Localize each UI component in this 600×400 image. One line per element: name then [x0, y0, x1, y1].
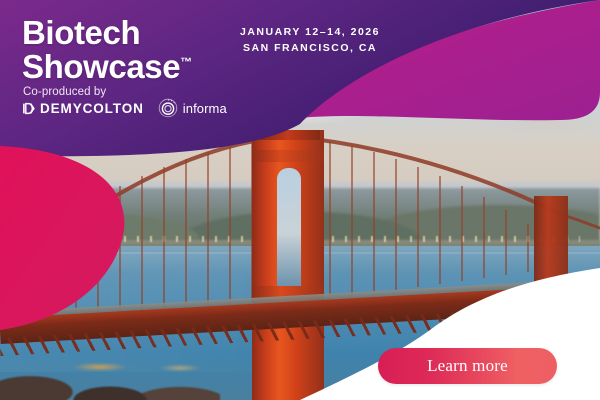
- title-line-1: Biotech: [22, 14, 140, 51]
- event-dates: JANUARY 12–14, 2026: [220, 24, 400, 40]
- crimson-petal-shape: [0, 146, 124, 330]
- demycolton-logo[interactable]: DEMYCOLTON: [22, 101, 144, 116]
- event-location: SAN FRANCISCO, CA: [220, 40, 400, 56]
- demycolton-monogram-icon: [22, 102, 35, 115]
- informa-spiral-icon: [158, 98, 178, 118]
- coproduced-label: Co-produced by: [23, 86, 106, 98]
- informa-logo[interactable]: informa: [158, 98, 227, 118]
- partner-logo-row: DEMYCOLTON informa: [22, 98, 227, 118]
- promotional-banner: Biotech Showcase™ Co-produced by DEMYCOL…: [0, 0, 600, 400]
- title-line-2: Showcase: [22, 48, 180, 85]
- event-details: JANUARY 12–14, 2026 SAN FRANCISCO, CA: [220, 24, 400, 57]
- informa-wordmark: informa: [183, 101, 227, 116]
- learn-more-button[interactable]: Learn more: [378, 348, 557, 384]
- demycolton-wordmark: DEMYCOLTON: [40, 101, 144, 116]
- trademark-symbol: ™: [180, 55, 192, 69]
